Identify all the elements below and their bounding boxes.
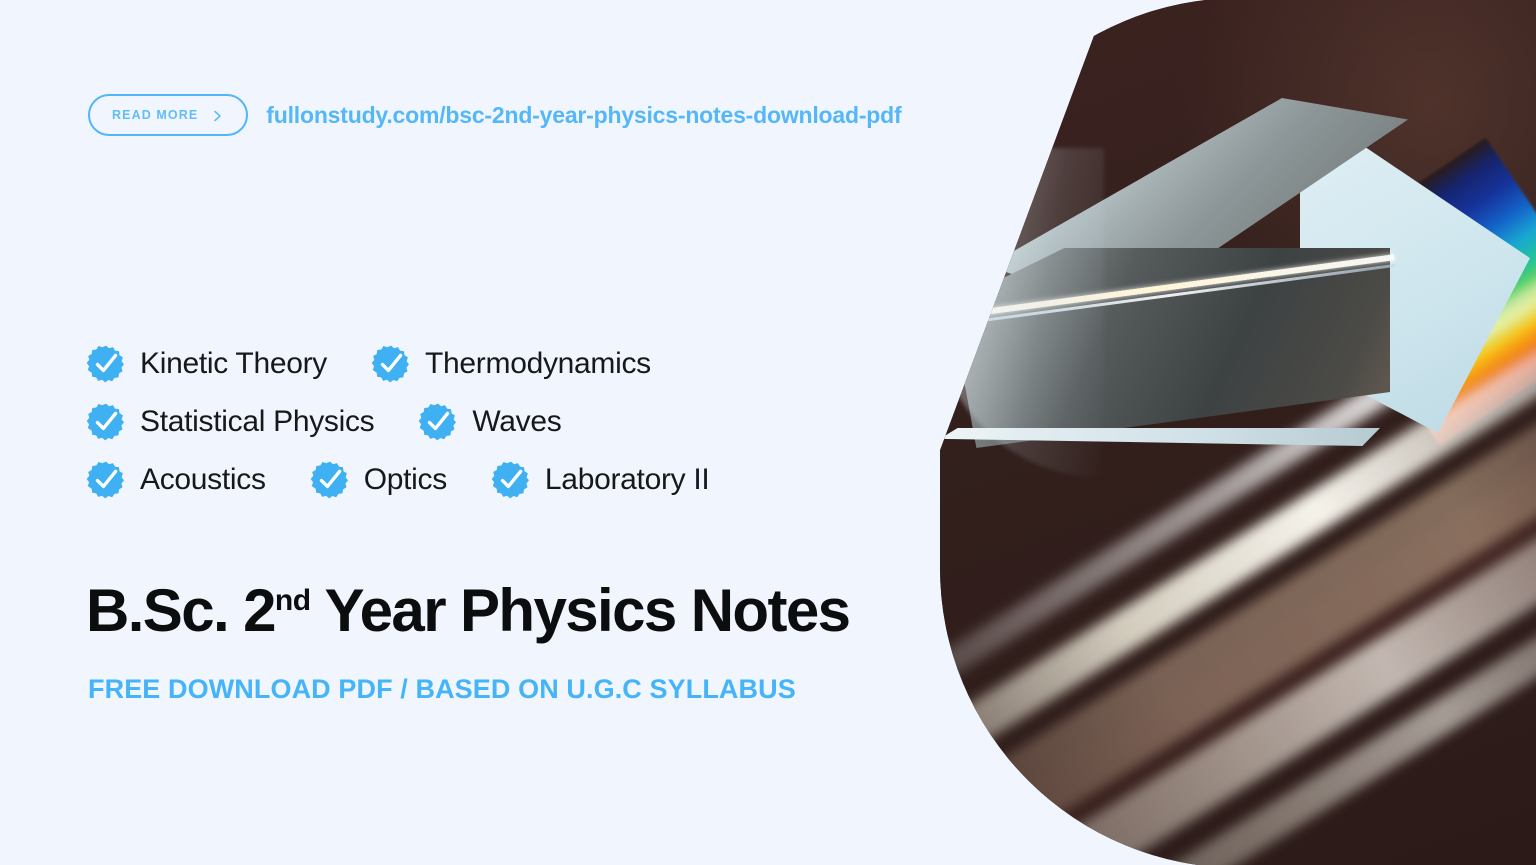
list-item: Laboratory II: [491, 460, 710, 500]
list-item: Waves: [418, 402, 561, 442]
glass-prism: [940, 0, 1536, 865]
topic-label: Acoustics: [140, 463, 266, 497]
list-item: Acoustics: [86, 460, 266, 500]
topics-row: Acoustics Optics Laborat: [86, 460, 906, 500]
topic-label: Optics: [364, 463, 447, 497]
verified-check-badge-icon: [418, 402, 458, 442]
verified-check-badge-icon: [86, 460, 126, 500]
page-title-suffix: Year Physics Notes: [311, 577, 850, 644]
read-more-label: READ MORE: [112, 108, 198, 122]
read-more-button[interactable]: READ MORE: [88, 94, 248, 136]
topics-row: Statistical Physics Waves: [86, 402, 906, 442]
verified-check-badge-icon: [491, 460, 531, 500]
topic-label: Thermodynamics: [425, 347, 651, 381]
list-item: Kinetic Theory: [86, 344, 327, 384]
chevron-right-icon: [212, 109, 224, 121]
verified-check-badge-icon: [86, 402, 126, 442]
page-title-prefix: B.Sc. 2: [86, 577, 275, 644]
topic-label: Laboratory II: [545, 463, 710, 497]
hero-prism-image: [940, 0, 1536, 865]
page-subtitle: FREE DOWNLOAD PDF / BASED ON U.G.C SYLLA…: [88, 674, 796, 705]
source-url[interactable]: fullonstudy.com/bsc-2nd-year-physics-not…: [266, 102, 901, 129]
verified-check-badge-icon: [86, 344, 126, 384]
list-item: Optics: [310, 460, 447, 500]
topic-label: Statistical Physics: [140, 405, 374, 439]
verified-check-badge-icon: [371, 344, 411, 384]
list-item: Statistical Physics: [86, 402, 374, 442]
promo-banner: READ MORE fullonstudy.com/bsc-2nd-year-p…: [0, 0, 1536, 865]
topics-list: Kinetic Theory Thermodynamics: [86, 344, 906, 518]
page-title: B.Sc. 2nd Year Physics Notes: [86, 576, 849, 645]
page-title-superscript: nd: [275, 584, 311, 617]
topic-label: Waves: [472, 405, 561, 439]
list-item: Thermodynamics: [371, 344, 651, 384]
topics-row: Kinetic Theory Thermodynamics: [86, 344, 906, 384]
topic-label: Kinetic Theory: [140, 347, 327, 381]
verified-check-badge-icon: [310, 460, 350, 500]
top-link-row: READ MORE fullonstudy.com/bsc-2nd-year-p…: [88, 94, 901, 136]
